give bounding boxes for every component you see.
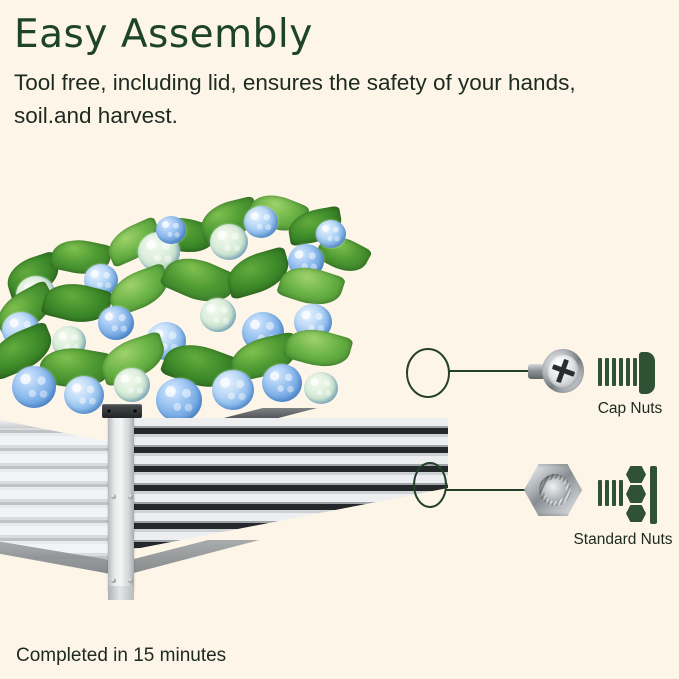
header-block: Easy Assembly Tool free, including lid, … [14, 10, 654, 132]
page-title: Easy Assembly [14, 10, 654, 60]
page-subtitle: Tool free, including lid, ensures the sa… [14, 66, 614, 132]
callout-label-cap-nuts: Cap Nuts [545, 400, 679, 418]
thread-bar-icon [612, 480, 616, 506]
bracket-bolt-hole-icon [107, 409, 111, 413]
hex-nut-top-icon [626, 466, 646, 483]
thread-bar-icon [633, 358, 637, 386]
hex-nut-threaded-bore-icon [539, 474, 571, 506]
screw-photo [528, 348, 584, 394]
bracket-bolt-hole-icon [133, 409, 137, 413]
cap-body-icon [639, 352, 655, 394]
panel-bar-icon [650, 466, 657, 524]
post-screw-icon [111, 494, 116, 499]
thread-bar-icon [605, 480, 609, 506]
footer-caption: Completed in 15 minutes [16, 645, 226, 667]
hex-nut-photo [524, 464, 582, 516]
thread-bar-icon [598, 480, 602, 506]
hex-nut-middle-icon [626, 485, 646, 503]
thread-bar-icon [605, 358, 609, 386]
post-screw-icon [111, 578, 116, 583]
raised-garden-bed [0, 390, 460, 605]
thread-bar-icon [612, 358, 616, 386]
corner-post-foot [108, 586, 134, 600]
thread-bar-icon [619, 358, 623, 386]
cap-nut-schematic-icon [598, 352, 660, 394]
hydrangea-plants [0, 180, 358, 425]
post-screw-icon [128, 494, 133, 499]
bed-right-panel [130, 418, 448, 603]
standard-nut-schematic-icon [598, 466, 664, 526]
callout-label-standard-nuts: Standard Nuts [538, 531, 679, 549]
thread-bar-icon [619, 480, 623, 506]
infographic-page: Easy Assembly Tool free, including lid, … [0, 0, 679, 679]
thread-bar-icon [626, 358, 630, 386]
thread-bar-icon [598, 358, 602, 386]
corner-post [108, 412, 134, 592]
corner-bracket-cap [102, 404, 142, 418]
post-screw-icon [128, 578, 133, 583]
hex-nut-bottom-icon [626, 505, 646, 522]
